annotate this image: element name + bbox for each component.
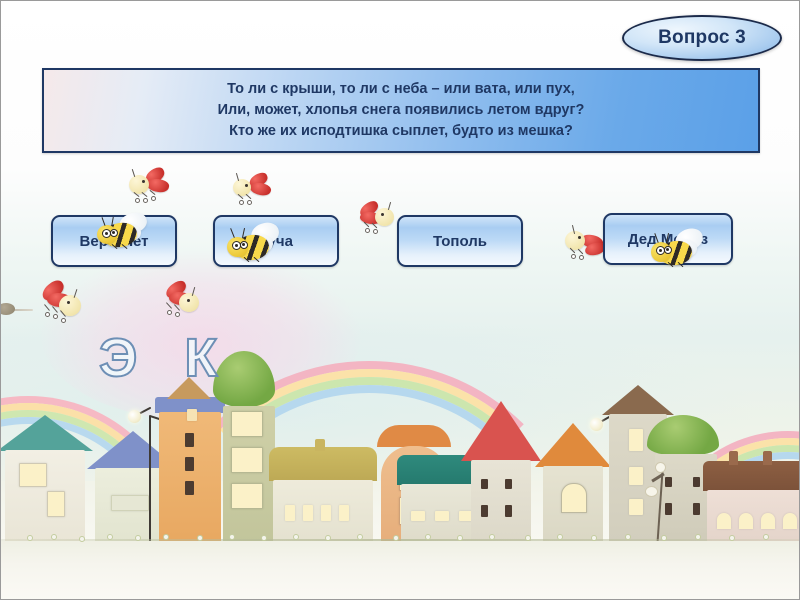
ladybug-icon — [31, 283, 77, 317]
question-line-2: Или, может, хлопья снега появились летом… — [218, 100, 585, 121]
ladybug-icon — [229, 173, 275, 207]
question-text-box: То ли с крыши, то ли с неба – или вата, … — [42, 68, 760, 153]
question-line-3: Кто же их исподтишка сыплет, будто из ме… — [218, 121, 585, 142]
presentation-slide: Э К — [0, 0, 800, 600]
question-number-label: Вопрос 3 — [658, 27, 746, 49]
question-text: То ли с крыши, то ли с неба – или вата, … — [210, 79, 593, 142]
ground — [1, 541, 800, 600]
floating-letters: Э К — [99, 331, 233, 385]
bee-icon — [227, 223, 279, 263]
bee-icon — [651, 229, 703, 269]
answer-option-3-label: Тополь — [433, 233, 487, 250]
ladybug-icon — [153, 283, 199, 317]
bee-icon — [97, 213, 149, 253]
ladybug-icon — [127, 167, 173, 201]
answer-option-3[interactable]: Тополь — [397, 215, 523, 267]
question-number-badge: Вопрос 3 — [622, 15, 782, 61]
question-line-1: То ли с крыши, то ли с неба – или вата, … — [218, 79, 585, 100]
